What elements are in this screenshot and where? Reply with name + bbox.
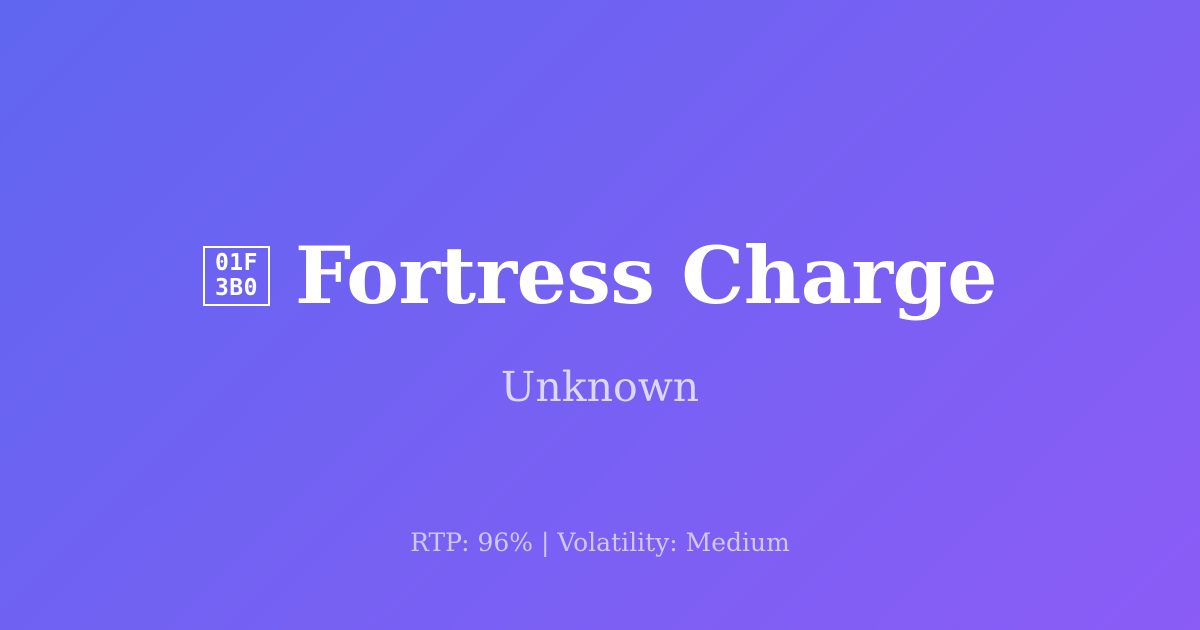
slot-machine-icon: 01F 3B0 — [203, 246, 270, 306]
slot-machine-icon-codepoint-bottom: 3B0 — [215, 276, 258, 301]
slot-machine-icon-codepoint-top: 01F — [215, 251, 258, 276]
og-share-card: 01F 3B0 Fortress Charge Unknown RTP: 96%… — [0, 0, 1200, 630]
page-title: Fortress Charge — [295, 230, 997, 322]
title-row: 01F 3B0 Fortress Charge — [0, 230, 1200, 322]
game-provider-subtitle: Unknown — [0, 362, 1200, 412]
game-stats: RTP: 96% | Volatility: Medium — [0, 528, 1200, 558]
